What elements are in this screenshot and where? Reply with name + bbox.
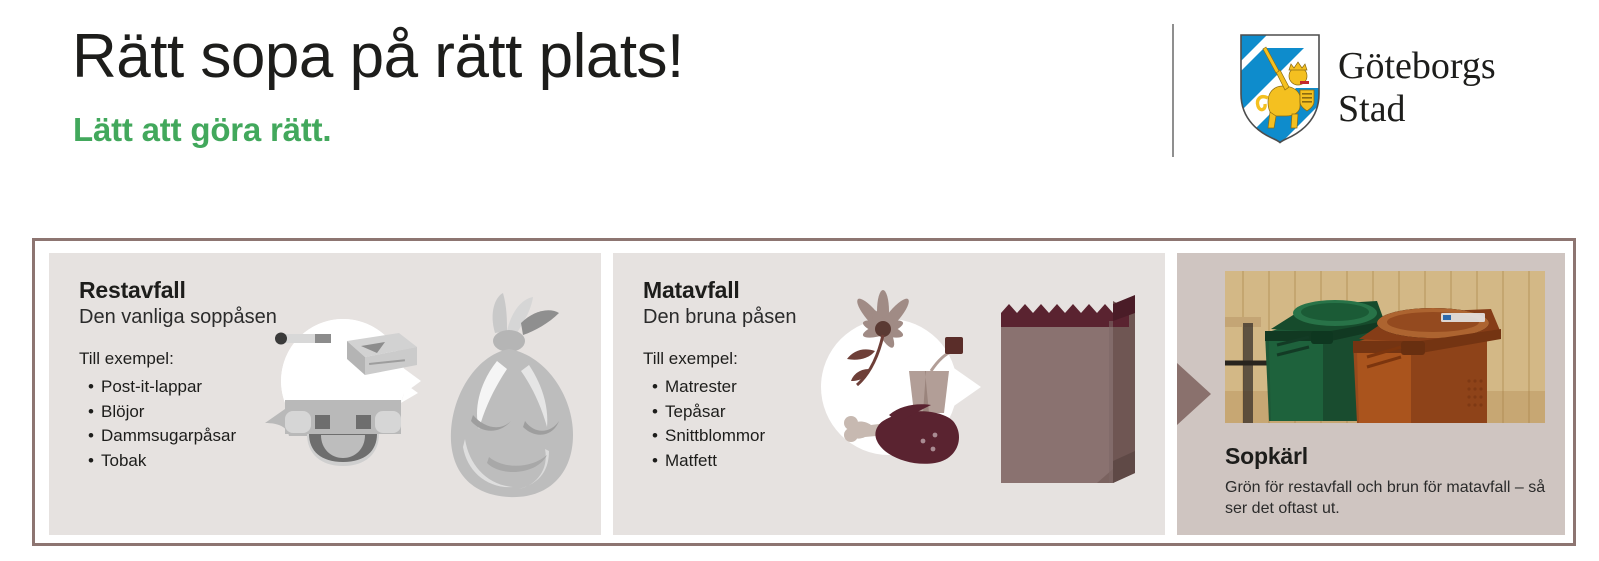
examples-label: Till exempel: [643, 349, 765, 369]
page-header: Rätt sopa på rätt plats! Lätt att göra r… [0, 0, 1599, 200]
panel-restavfall-examples: Till exempel: Post-it-lappar Blöjor Damm… [79, 349, 236, 474]
list-item: Tobak [88, 449, 236, 474]
goteborgs-stad-logo: Göteborgs Stad [1238, 32, 1496, 144]
panel-restavfall-subtitle: Den vanliga soppåsen [79, 305, 277, 329]
sopkarl-description: Grön för restavfall och brun för matavfa… [1225, 477, 1555, 519]
examples-label: Till exempel: [79, 349, 236, 369]
header-divider [1172, 24, 1174, 157]
sopkarl-caption: Sopkärl Grön för restavfall och brun för… [1225, 443, 1555, 519]
panel-matavfall-subtitle: Den bruna påsen [643, 305, 796, 329]
list-item: Blöjor [88, 400, 236, 425]
arrow-right-icon [1177, 363, 1211, 425]
panel-matavfall-heading: Matavfall Den bruna påsen [643, 277, 796, 329]
examples-list: Post-it-lappar Blöjor Dammsugarpåsar Tob… [79, 375, 236, 474]
page-subtitle: Lätt att göra rätt. [73, 112, 331, 148]
panel-restavfall-heading: Restavfall Den vanliga soppåsen [79, 277, 277, 329]
goteborg-coat-of-arms-icon [1238, 32, 1322, 144]
list-item: Matrester [652, 375, 765, 400]
page-title: Rätt sopa på rätt plats! [72, 23, 684, 91]
panel-matavfall-title: Matavfall [643, 277, 796, 303]
list-item: Tepåsar [652, 400, 765, 425]
waste-sorting-frame: Restavfall Den vanliga soppåsen Till exe… [32, 238, 1576, 546]
logo-wordmark: Göteborgs Stad [1338, 45, 1496, 132]
examples-list: Matrester Tepåsar Snittblommor Matfett [643, 375, 765, 474]
list-item: Dammsugarpåsar [88, 424, 236, 449]
panel-sopkarl: Sopkärl Grön för restavfall och brun för… [1177, 253, 1565, 535]
panel-restavfall: Restavfall Den vanliga soppåsen Till exe… [49, 253, 601, 535]
panel-restavfall-title: Restavfall [79, 277, 277, 303]
panel-matavfall: Matavfall Den bruna påsen Till exempel: … [613, 253, 1165, 535]
list-item: Snittblommor [652, 424, 765, 449]
list-item: Matfett [652, 449, 765, 474]
green-and-brown-wheelie-bins-photo [1225, 271, 1545, 423]
sopkarl-title: Sopkärl [1225, 443, 1555, 470]
panel-matavfall-examples: Till exempel: Matrester Tepåsar Snittblo… [643, 349, 765, 474]
list-item: Post-it-lappar [88, 375, 236, 400]
